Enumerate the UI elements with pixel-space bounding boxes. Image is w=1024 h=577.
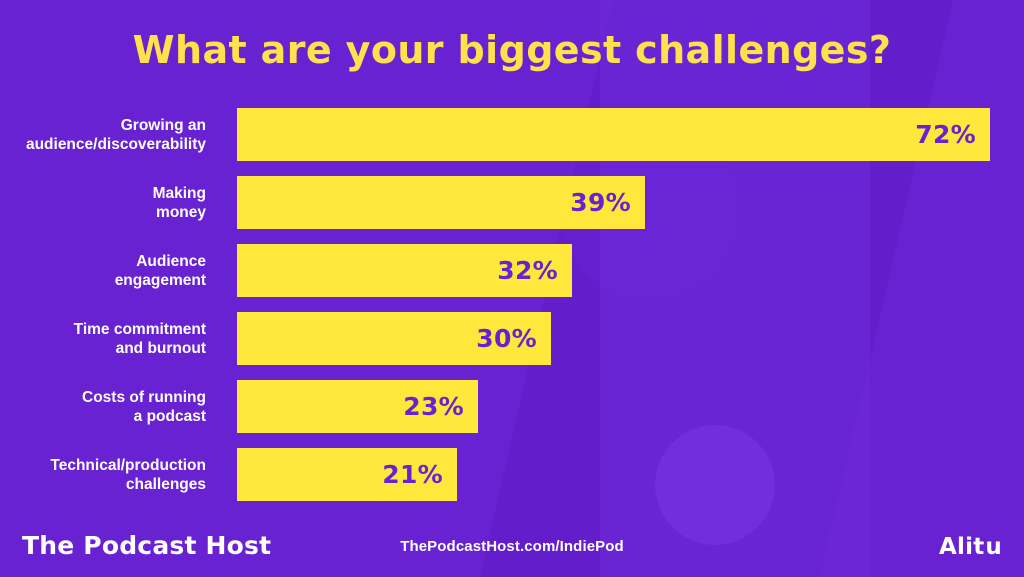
bar-chart-body: Growing anaudience/discoverability72%Mak… <box>0 108 1024 516</box>
bar: 30% <box>237 312 551 365</box>
bar-track: 32% <box>237 244 1024 297</box>
bar-track: 23% <box>237 380 1024 433</box>
category-label-line: audience/discoverability <box>26 135 206 154</box>
chart-row: Audienceengagement32% <box>0 244 1024 297</box>
infographic-chart: What are your biggest challenges? Growin… <box>0 0 1024 577</box>
category-label: Technical/productionchallenges <box>0 448 206 501</box>
category-label-line: Making <box>153 184 206 203</box>
category-label: Time commitmentand burnout <box>0 312 206 365</box>
chart-row: Time commitmentand burnout30% <box>0 312 1024 365</box>
category-label: Costs of runninga podcast <box>0 380 206 433</box>
bar-track: 21% <box>237 448 1024 501</box>
category-label: Makingmoney <box>0 176 206 229</box>
brand-logo-alitu: Alit u <box>939 534 1002 560</box>
category-label: Growing anaudience/discoverability <box>0 108 206 161</box>
chart-row: Costs of runninga podcast23% <box>0 380 1024 433</box>
category-label-line: Time commitment <box>74 320 206 339</box>
category-label-line: engagement <box>115 271 206 290</box>
bar-track: 72% <box>237 108 1024 161</box>
bar-track: 39% <box>237 176 1024 229</box>
bar-value-label: 21% <box>382 460 457 489</box>
bar: 23% <box>237 380 478 433</box>
category-label-line: Growing an <box>121 116 206 135</box>
bar-track: 30% <box>237 312 1024 365</box>
chart-row: Growing anaudience/discoverability72% <box>0 108 1024 161</box>
category-label-line: challenges <box>126 475 206 494</box>
bar: 39% <box>237 176 645 229</box>
category-label-line: Technical/production <box>50 456 206 475</box>
bar: 21% <box>237 448 457 501</box>
bar-value-label: 39% <box>570 188 645 217</box>
bar-value-label: 72% <box>915 120 990 149</box>
category-label-line: money <box>156 203 206 222</box>
bar-value-label: 32% <box>497 256 572 285</box>
category-label-line: a podcast <box>134 407 206 426</box>
chart-row: Technical/productionchallenges21% <box>0 448 1024 501</box>
footer-url: ThePodcastHost.com/IndiePod <box>0 538 1024 555</box>
category-label-line: Audience <box>136 252 206 271</box>
alitu-u-flourish-icon: u <box>985 534 1002 560</box>
bar: 72% <box>237 108 990 161</box>
category-label-line: and burnout <box>116 339 206 358</box>
category-label-line: Costs of running <box>82 388 206 407</box>
chart-title: What are your biggest challenges? <box>0 28 1024 72</box>
bar-value-label: 30% <box>476 324 551 353</box>
bar-value-label: 23% <box>403 392 478 421</box>
alitu-wordmark: Alit <box>939 534 984 560</box>
chart-row: Makingmoney39% <box>0 176 1024 229</box>
category-label: Audienceengagement <box>0 244 206 297</box>
bar: 32% <box>237 244 572 297</box>
footer: The Podcast Host ThePodcastHost.com/Indi… <box>0 517 1024 577</box>
